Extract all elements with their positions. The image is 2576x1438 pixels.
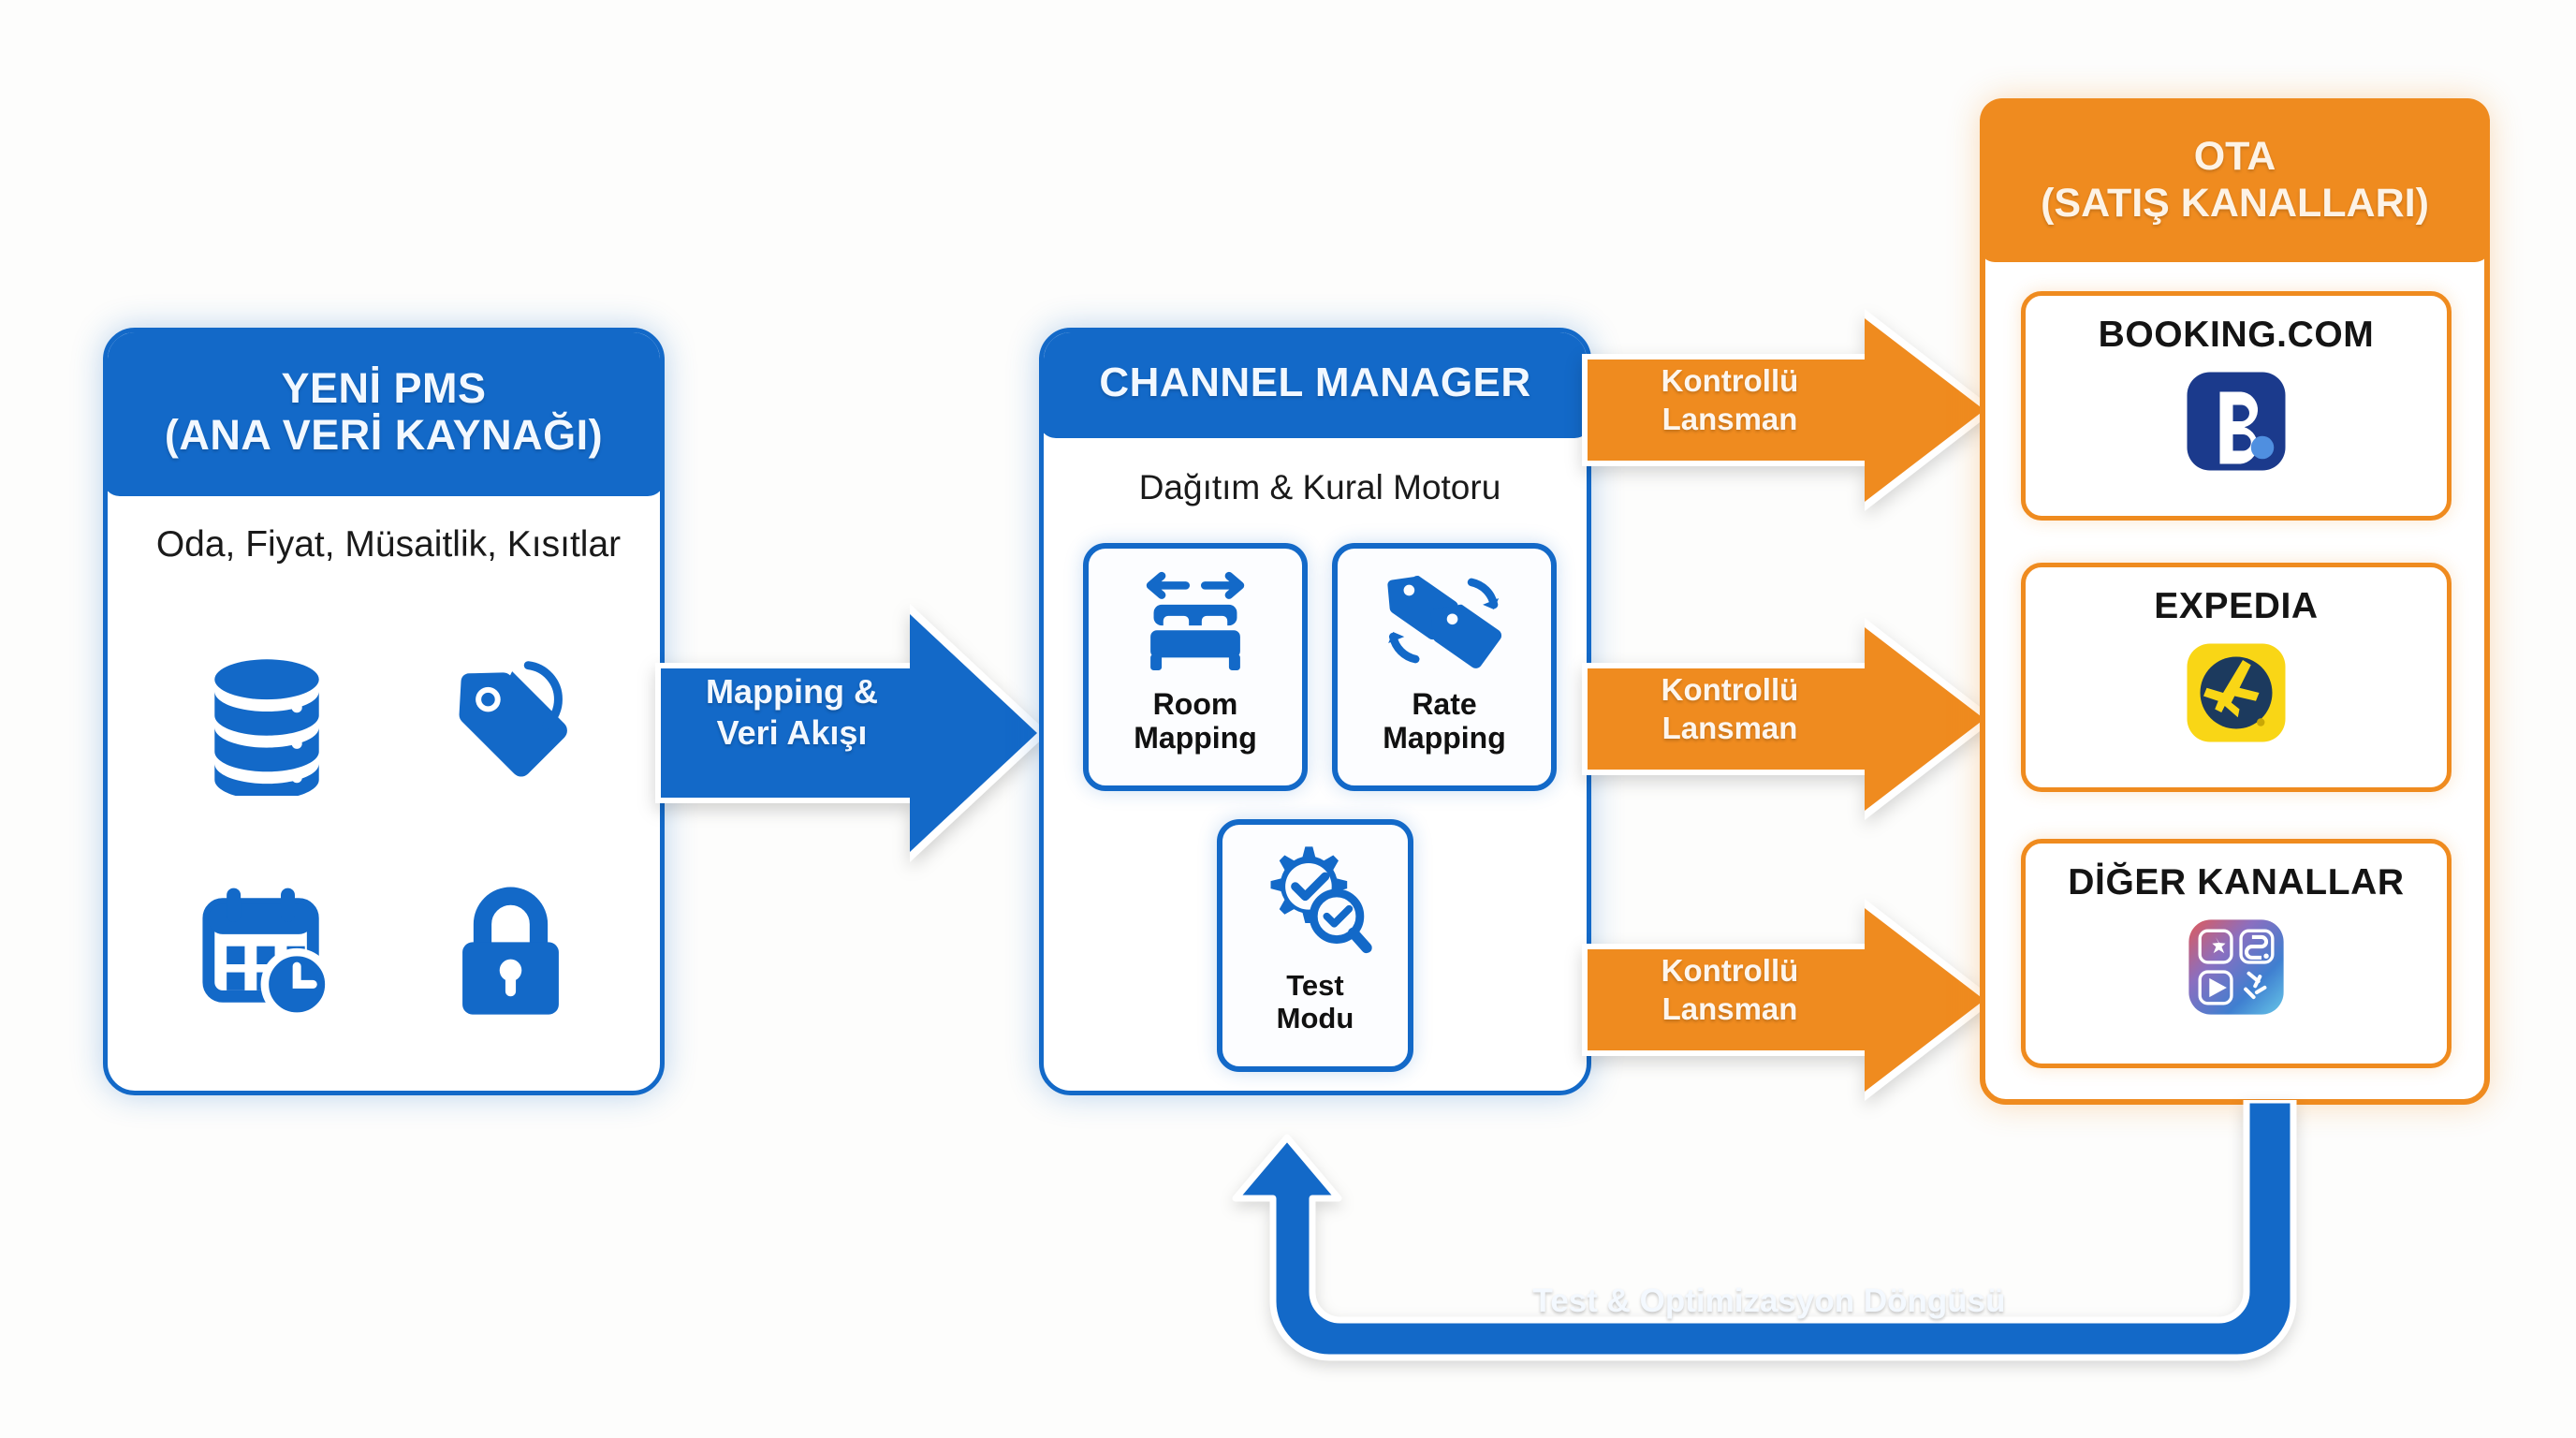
bed-arrows-icon xyxy=(1134,565,1256,681)
pms-icon-grid xyxy=(145,613,632,1063)
rate-mapping-line2: Mapping xyxy=(1383,722,1506,756)
ota-channel-name: EXPEDIA xyxy=(2154,586,2318,627)
controlled-launch-label: Kontrollü Lansman xyxy=(1595,361,1865,439)
mapping-arrow-label: Mapping & Veri Akışı xyxy=(665,671,919,754)
arrow-head-fill xyxy=(1865,627,1984,811)
test-mode-line2: Modu xyxy=(1277,1003,1354,1035)
controlled-launch-arrow-expedia: Kontrollü Lansman xyxy=(1582,618,1994,819)
channel-manager-panel: CHANNEL MANAGER Dağıtım & Kural Motoru xyxy=(1039,328,1591,1095)
launch-line2: Lansman xyxy=(1595,990,1865,1028)
channel-manager-header: CHANNEL MANAGER xyxy=(1039,328,1591,438)
mapping-data-flow-arrow: Mapping & Veri Akışı xyxy=(655,604,1048,861)
other-channels-logo xyxy=(2186,917,2287,1022)
booking-logo xyxy=(2184,369,2289,478)
pms-subtitle: Oda, Fiyat, Müsaitlik, Kısıtlar xyxy=(108,524,665,565)
room-mapping-line2: Mapping xyxy=(1134,722,1257,756)
ota-channel-booking[interactable]: BOOKING.COM xyxy=(2021,291,2452,521)
pms-title-line1: YENİ PMS xyxy=(281,365,486,412)
controlled-launch-arrow-other: Kontrollü Lansman xyxy=(1582,899,1994,1100)
launch-line1: Kontrollü xyxy=(1595,361,1865,400)
launch-line2: Lansman xyxy=(1595,709,1865,747)
mapping-arrow-line1: Mapping & xyxy=(665,671,919,712)
launch-line2: Lansman xyxy=(1595,400,1865,438)
launch-line1: Kontrollü xyxy=(1595,670,1865,709)
channel-manager-subtitle: Dağıtım & Kural Motoru xyxy=(1044,468,1591,507)
rate-mapping-card[interactable]: Rate Mapping xyxy=(1332,543,1557,791)
ota-panel: OTA (SATIŞ KANALLARI) BOOKING.COM EXPEDI… xyxy=(1980,98,2490,1105)
arrow-head-fill xyxy=(910,614,1037,852)
mapping-arrow-line2: Veri Akışı xyxy=(665,712,919,754)
controlled-launch-arrow-booking: Kontrollü Lansman xyxy=(1582,309,1994,510)
launch-line1: Kontrollü xyxy=(1595,951,1865,990)
rate-tags-icon xyxy=(1383,565,1505,681)
test-mode-card[interactable]: Test Modu xyxy=(1217,819,1413,1072)
mapping-cards-row: Room Mapping xyxy=(1072,543,1568,791)
arrow-head-fill xyxy=(1865,318,1984,502)
room-mapping-card[interactable]: Room Mapping xyxy=(1083,543,1308,791)
ota-channel-name: DİĞER KANALLAR xyxy=(2068,862,2404,903)
expedia-logo xyxy=(2184,640,2289,750)
lock-icon xyxy=(447,880,574,1020)
test-mode-caption: Test Modu xyxy=(1277,970,1354,1034)
ota-title-line2: (SATIŞ KANALLARI) xyxy=(2041,181,2429,227)
price-tag-icon xyxy=(440,655,580,796)
test-optimization-loop: Test & Optimizasyon Döngüsü xyxy=(1198,1100,2340,1372)
database-icon xyxy=(201,655,332,796)
rate-mapping-line1: Rate xyxy=(1383,688,1506,722)
gear-check-magnifier-icon xyxy=(1255,842,1375,962)
pms-title-line2: (ANA VERİ KAYNAĞI) xyxy=(165,412,603,459)
pms-panel-header: YENİ PMS (ANA VERİ KAYNAĞI) xyxy=(103,328,665,496)
ota-title-line1: OTA xyxy=(2194,134,2276,180)
diagram-canvas: YENİ PMS (ANA VERİ KAYNAĞI) Oda, Fiyat, … xyxy=(0,0,2576,1438)
loop-arrow-shape xyxy=(1198,1100,2340,1372)
ota-channel-name: BOOKING.COM xyxy=(2099,315,2375,356)
ota-channel-expedia[interactable]: EXPEDIA xyxy=(2021,563,2452,792)
test-mode-line1: Test xyxy=(1277,970,1354,1003)
room-mapping-line1: Room xyxy=(1134,688,1257,722)
arrow-head-fill xyxy=(1865,908,1984,1092)
ota-channel-other[interactable]: DİĞER KANALLAR xyxy=(2021,839,2452,1068)
channel-manager-title: CHANNEL MANAGER xyxy=(1099,359,1530,405)
pms-panel: YENİ PMS (ANA VERİ KAYNAĞI) Oda, Fiyat, … xyxy=(103,328,665,1095)
calendar-clock-icon xyxy=(197,880,337,1020)
loop-label: Test & Optimizasyon Döngüsü xyxy=(1479,1283,2059,1320)
controlled-launch-label: Kontrollü Lansman xyxy=(1595,951,1865,1029)
controlled-launch-label: Kontrollü Lansman xyxy=(1595,670,1865,748)
ota-panel-header: OTA (SATIŞ KANALLARI) xyxy=(1980,98,2490,262)
rate-mapping-caption: Rate Mapping xyxy=(1383,688,1506,756)
room-mapping-caption: Room Mapping xyxy=(1134,688,1257,756)
